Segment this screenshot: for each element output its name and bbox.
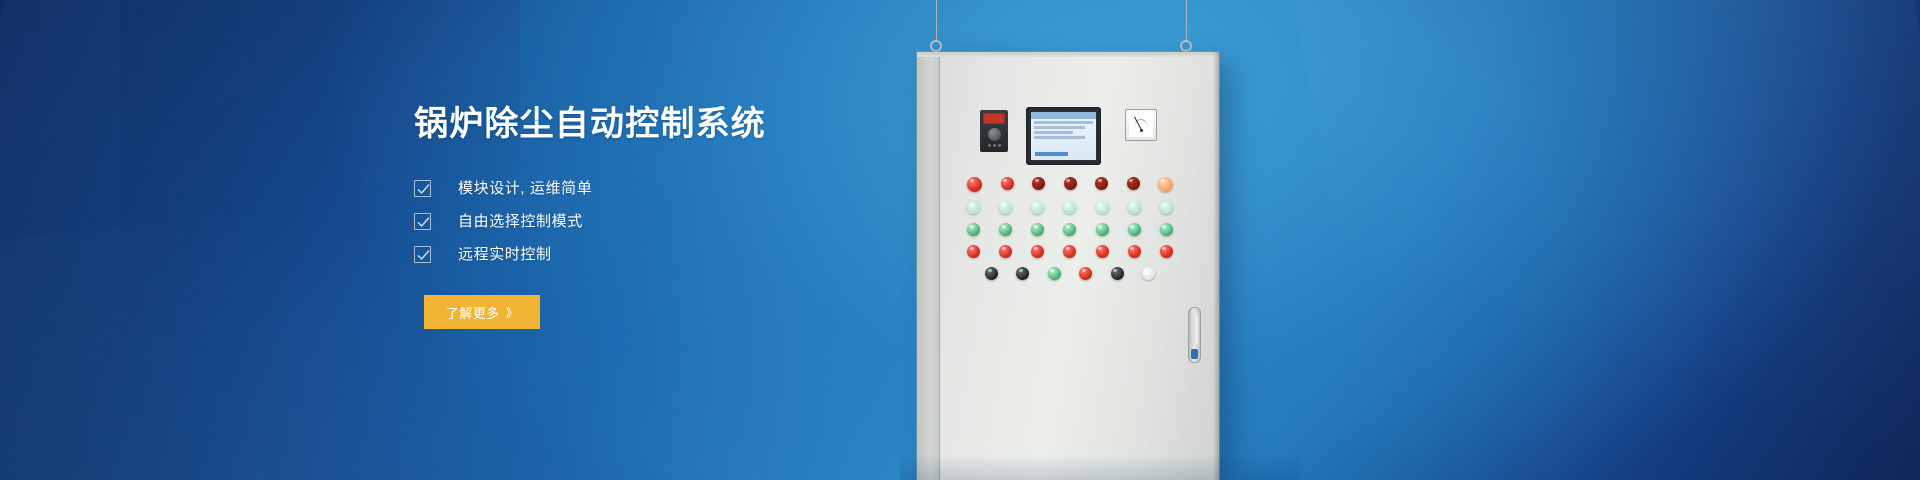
control-cabinet bbox=[917, 52, 1219, 480]
indicator-lamp-green[interactable] bbox=[1128, 223, 1141, 236]
controller-leds bbox=[983, 144, 1005, 147]
pushbutton-black[interactable] bbox=[985, 267, 998, 280]
indicator-lamp-light-green[interactable] bbox=[967, 201, 980, 214]
indicator-lamp-green[interactable] bbox=[999, 223, 1012, 236]
list-item: 自由选择控制模式 bbox=[414, 205, 884, 238]
indicator-lamp-green[interactable] bbox=[1160, 223, 1173, 236]
hmi-touch-screen bbox=[1026, 107, 1101, 165]
hmi-progress-bar bbox=[1035, 152, 1068, 156]
hmi-title-bar bbox=[1031, 112, 1096, 119]
list-item: 远程实时控制 bbox=[414, 238, 884, 271]
indicator-lamp-light-green[interactable] bbox=[1063, 201, 1076, 214]
pushbutton-green[interactable] bbox=[1048, 267, 1061, 280]
banner-copy: 锅炉除尘自动控制系统 模块设计, 运维简单 自由选择控制模式 bbox=[414, 104, 884, 329]
cabinet-top-cap bbox=[917, 52, 1219, 57]
cabinet-side-panel bbox=[917, 52, 940, 480]
lifting-eyelet-right bbox=[1180, 40, 1192, 52]
indicator-lamp-grid bbox=[967, 177, 1173, 289]
pushbutton-black[interactable] bbox=[1016, 267, 1029, 280]
hmi-data-row bbox=[1034, 126, 1085, 129]
indicator-lamp-red[interactable] bbox=[1031, 245, 1044, 258]
feature-list: 模块设计, 运维简单 自由选择控制模式 远程实时控制 bbox=[414, 172, 884, 271]
lamp-row bbox=[967, 177, 1173, 192]
indicator-lamp-red[interactable] bbox=[1001, 177, 1014, 190]
analog-meter bbox=[1125, 109, 1157, 141]
cabinet-door-handle[interactable] bbox=[1188, 307, 1201, 363]
chevron-right-icon: 》 bbox=[506, 304, 519, 321]
lifting-eyelet-left bbox=[930, 40, 942, 52]
indicator-lamp-green[interactable] bbox=[1096, 223, 1109, 236]
hero-banner: 锅炉除尘自动控制系统 模块设计, 运维简单 自由选择控制模式 bbox=[0, 0, 1920, 480]
cabinet-door-edge bbox=[1213, 52, 1219, 480]
controller-display bbox=[983, 113, 1005, 124]
indicator-lamp-green[interactable] bbox=[1031, 223, 1044, 236]
learn-more-button[interactable]: 了解更多 》 bbox=[424, 295, 540, 329]
indicator-lamp-dark-red[interactable] bbox=[1032, 177, 1045, 190]
page-title: 锅炉除尘自动控制系统 bbox=[414, 104, 884, 144]
lamp-row bbox=[967, 201, 1173, 214]
pushbutton-black[interactable] bbox=[1111, 267, 1124, 280]
lamp-row bbox=[967, 267, 1173, 280]
checkbox-checked-icon bbox=[414, 246, 431, 263]
indicator-lamp-red[interactable] bbox=[1128, 245, 1141, 258]
indicator-lamp-red[interactable] bbox=[967, 245, 980, 258]
indicator-lamp-dark-red[interactable] bbox=[1064, 177, 1077, 190]
indicator-lamp-red[interactable] bbox=[1096, 245, 1109, 258]
feature-label: 自由选择控制模式 bbox=[458, 214, 583, 229]
background-facet-3 bbox=[1284, 0, 1920, 480]
controller-knob-icon bbox=[988, 128, 1001, 141]
checkbox-checked-icon bbox=[414, 180, 431, 197]
hanging-wire-left bbox=[936, 0, 937, 42]
hmi-data-row bbox=[1034, 121, 1093, 124]
indicator-lamp-red[interactable] bbox=[967, 177, 982, 192]
indicator-lamp-orange[interactable] bbox=[1158, 177, 1173, 192]
indicator-lamp-light-green[interactable] bbox=[999, 201, 1012, 214]
feature-label: 模块设计, 运维简单 bbox=[458, 181, 592, 196]
indicator-lamp-light-green[interactable] bbox=[1160, 201, 1173, 214]
meter-face bbox=[1129, 113, 1153, 137]
indicator-lamp-light-green[interactable] bbox=[1096, 201, 1109, 214]
digital-controller bbox=[980, 110, 1008, 152]
hmi-data-row bbox=[1034, 136, 1085, 139]
indicator-lamp-red[interactable] bbox=[1160, 245, 1173, 258]
indicator-lamp-light-green[interactable] bbox=[1128, 201, 1141, 214]
meter-hub bbox=[1140, 129, 1143, 132]
hanging-wire-right bbox=[1186, 0, 1187, 42]
hmi-screen-content bbox=[1031, 112, 1096, 160]
pushbutton-red[interactable] bbox=[1079, 267, 1092, 280]
checkbox-checked-icon bbox=[414, 213, 431, 230]
indicator-lamp-dark-red[interactable] bbox=[1127, 177, 1140, 190]
learn-more-label: 了解更多 bbox=[446, 303, 500, 322]
lamp-row bbox=[967, 245, 1173, 258]
list-item: 模块设计, 运维简单 bbox=[414, 172, 884, 205]
indicator-lamp-light-green[interactable] bbox=[1031, 201, 1044, 214]
indicator-lamp-red[interactable] bbox=[1063, 245, 1076, 258]
handle-grip bbox=[1191, 314, 1198, 346]
lamp-row bbox=[967, 223, 1173, 236]
hmi-data-row bbox=[1034, 131, 1073, 134]
handle-lock-icon bbox=[1191, 349, 1198, 359]
indicator-lamp-dark-red[interactable] bbox=[1095, 177, 1108, 190]
product-image bbox=[900, 0, 1300, 480]
indicator-lamp-red[interactable] bbox=[999, 245, 1012, 258]
indicator-lamp-green[interactable] bbox=[967, 223, 980, 236]
indicator-lamp-green[interactable] bbox=[1063, 223, 1076, 236]
feature-label: 远程实时控制 bbox=[458, 247, 552, 262]
pushbutton-white[interactable] bbox=[1142, 267, 1155, 280]
